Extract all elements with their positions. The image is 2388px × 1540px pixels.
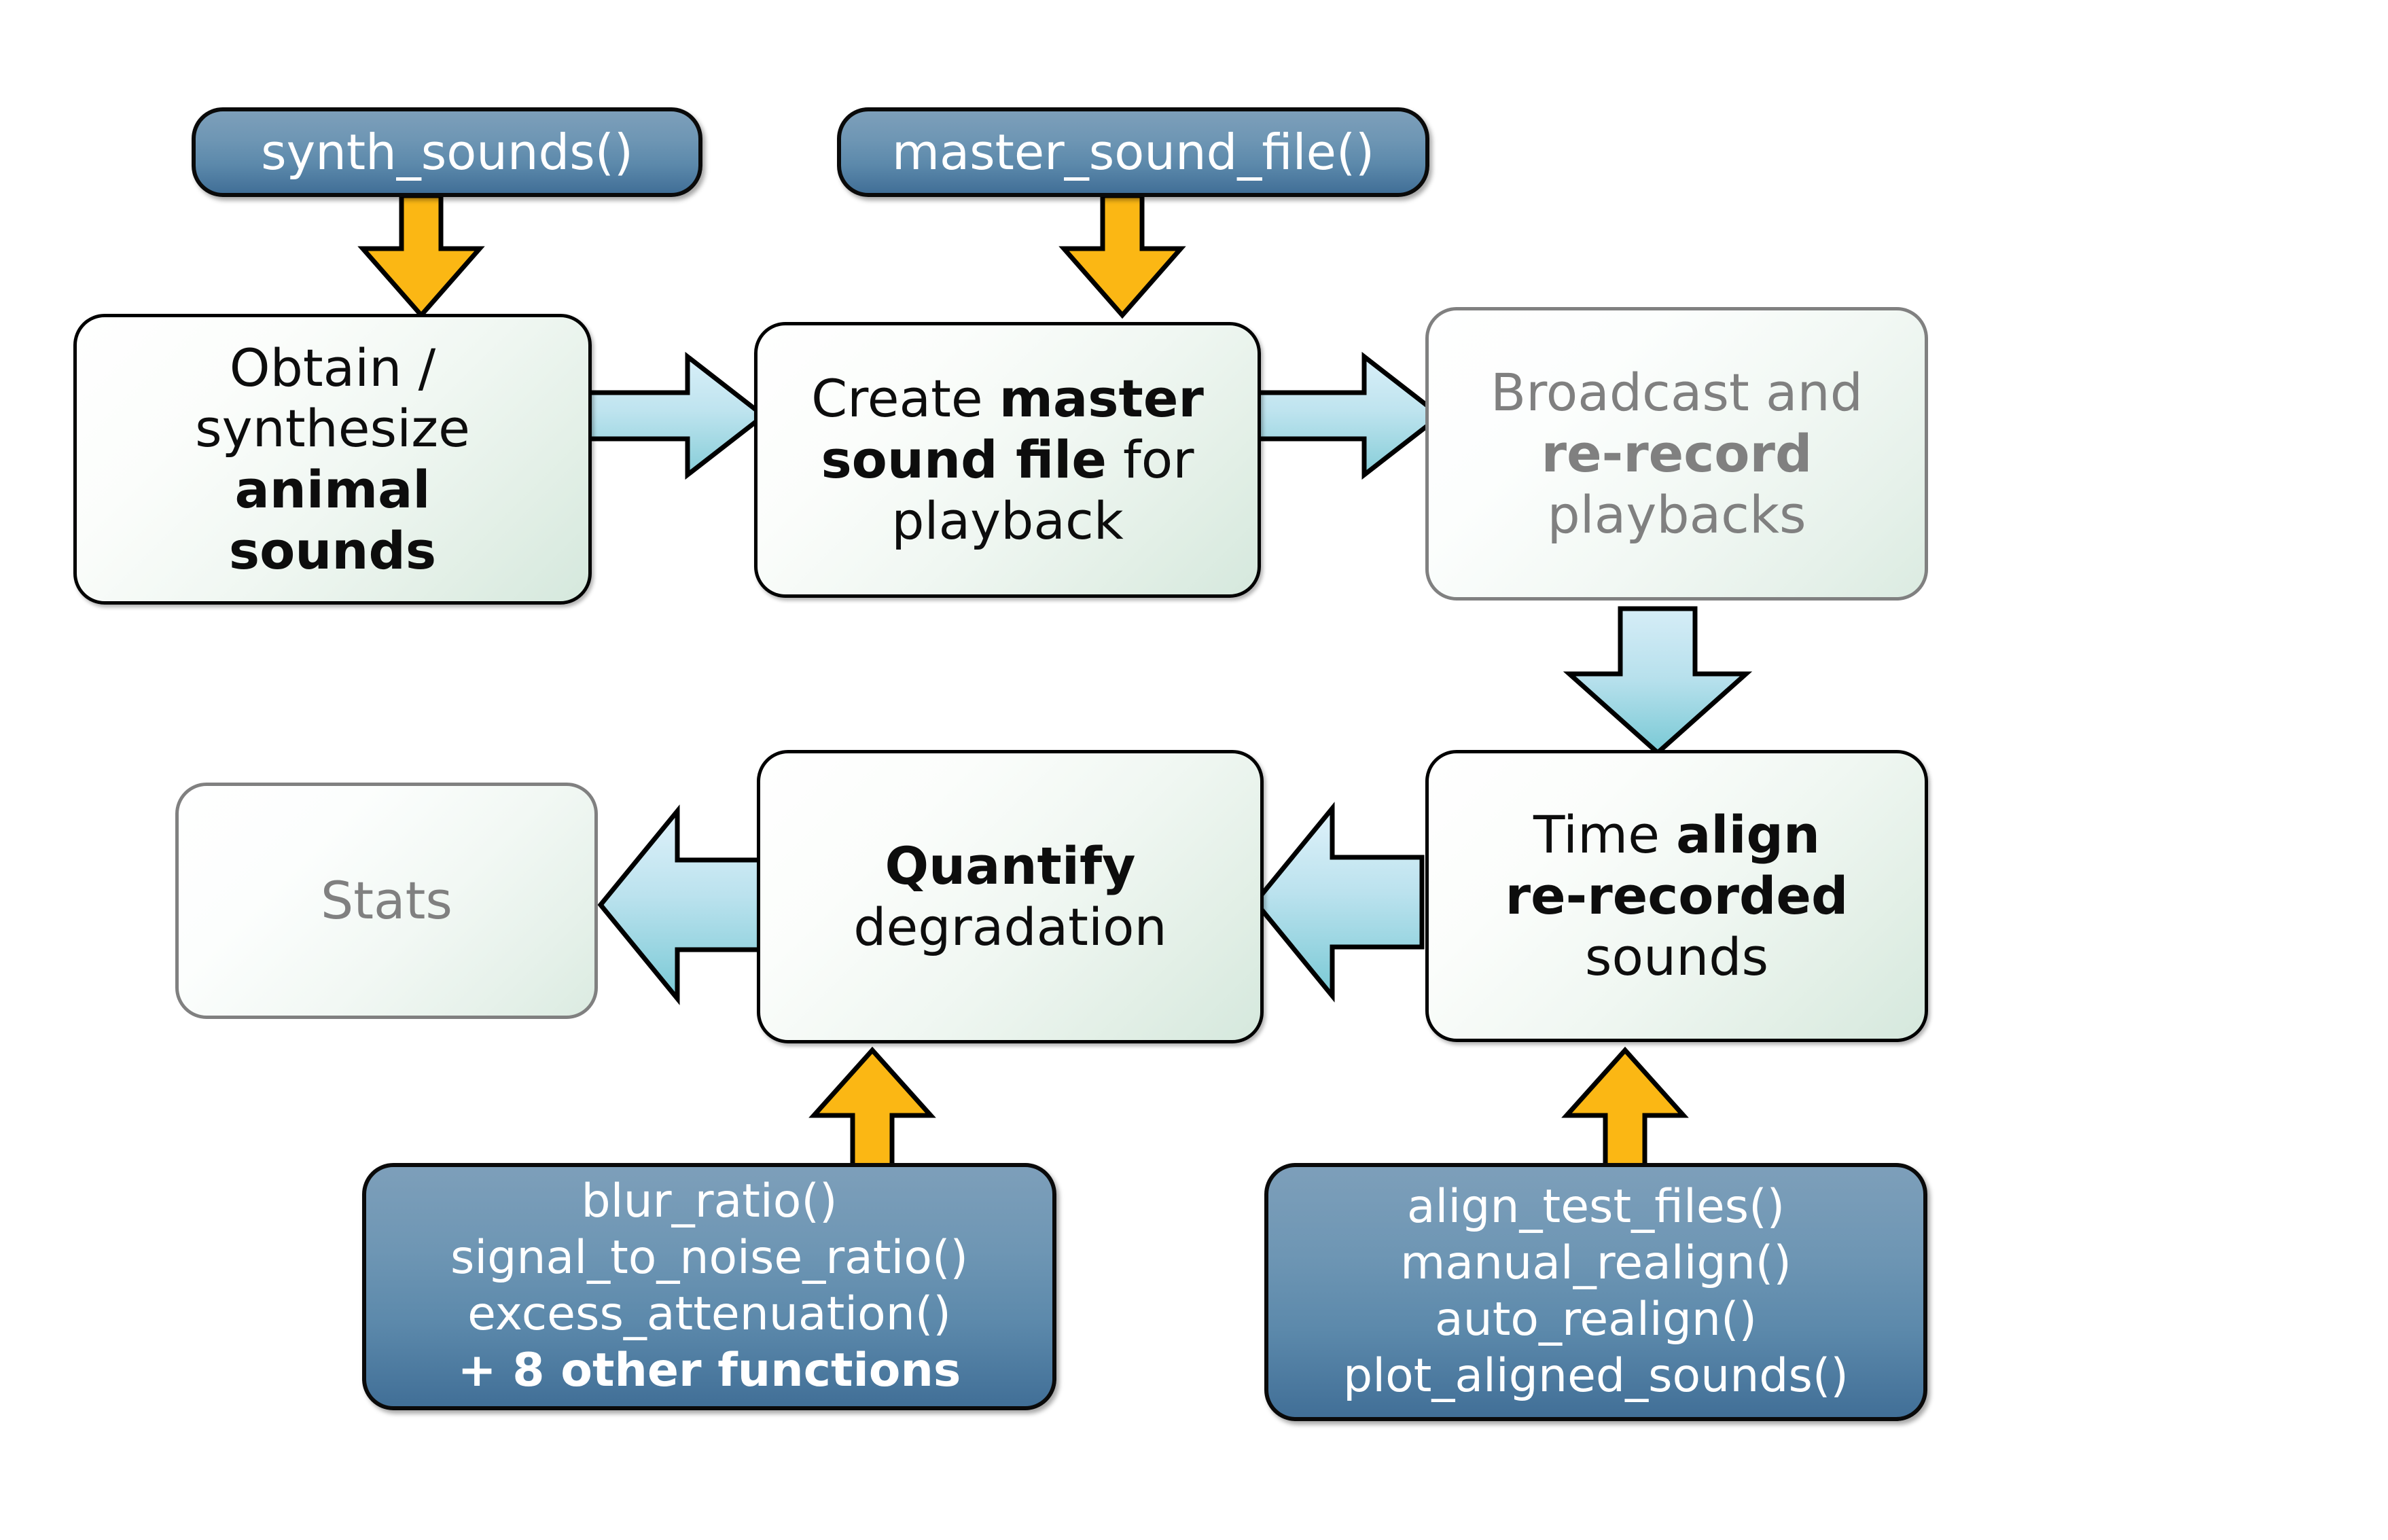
function-name: blur_ratio() (380, 1174, 1039, 1230)
node-create-master-label: Create master sound file for playback (775, 368, 1240, 551)
node-quantify-functions-label: blur_ratio() signal_to_noise_ratio() exc… (380, 1174, 1039, 1399)
node-master-sound-file[interactable]: master_sound_file() (837, 107, 1429, 197)
text-line: Time align (1446, 804, 1907, 865)
text-line: Quantify (778, 836, 1243, 897)
text-run-bold: master (999, 368, 1204, 429)
function-name: excess_attenuation() (380, 1287, 1039, 1343)
text-run: for (1107, 429, 1194, 490)
text-line: playback (775, 490, 1240, 552)
text-line: degradation (778, 897, 1243, 958)
arrow-quantifyfns-to-quantify (810, 1047, 935, 1171)
text-line: playbacks (1446, 484, 1907, 545)
arrow-create-to-broadcast (1258, 355, 1443, 477)
arrow-obtain-to-create (582, 355, 766, 477)
text-line: Broadcast and (1446, 362, 1907, 423)
arrow-alignfns-to-timealign (1563, 1047, 1688, 1171)
text-run: Create (811, 368, 999, 429)
node-master-sound-file-label: master_sound_file() (855, 125, 1412, 180)
node-stats-label: Stats (196, 870, 577, 931)
text-run-bold: sound file (821, 429, 1106, 490)
node-create-master-sound-file[interactable]: Create master sound file for playback (754, 322, 1261, 598)
text-line: re-record (1446, 423, 1907, 484)
node-align-functions-label: align_test_files() manual_realign() auto… (1282, 1179, 1910, 1405)
text-line: sounds (1446, 927, 1907, 988)
node-obtain-synthesize-label: Obtain / synthesize animal sounds (94, 338, 571, 581)
function-name: signal_to_noise_ratio() (380, 1230, 1039, 1287)
function-name: manual_realign() (1282, 1236, 1910, 1292)
node-align-functions[interactable]: align_test_files() manual_realign() auto… (1264, 1163, 1927, 1421)
node-quantify-degradation[interactable]: Quantify degradation (757, 750, 1264, 1043)
arrow-master-to-create (1060, 196, 1185, 317)
text-line: sounds (94, 520, 571, 581)
text-line: Create master (775, 368, 1240, 429)
text-run: Time (1533, 804, 1676, 865)
text-line: animal (94, 459, 571, 520)
node-stats[interactable]: Stats (175, 783, 598, 1019)
arrow-broadcast-to-timealign (1565, 609, 1750, 755)
node-time-align-label: Time align re-recorded sounds (1446, 804, 1907, 987)
function-name: align_test_files() (1282, 1179, 1910, 1236)
flowchart-canvas: synth_sounds() master_sound_file() Obtai… (0, 0, 2388, 1540)
function-name: auto_realign() (1282, 1292, 1910, 1348)
arrow-quantify-to-stats (598, 808, 769, 1001)
node-broadcast-rerecord[interactable]: Broadcast and re-record playbacks (1425, 307, 1928, 601)
node-time-align[interactable]: Time align re-recorded sounds (1425, 750, 1928, 1042)
node-quantify-degradation-label: Quantify degradation (778, 836, 1243, 957)
text-line: sound file for (775, 429, 1240, 490)
node-synth-sounds[interactable]: synth_sounds() (192, 107, 702, 197)
node-obtain-synthesize[interactable]: Obtain / synthesize animal sounds (73, 314, 592, 605)
node-broadcast-rerecord-label: Broadcast and re-record playbacks (1446, 362, 1907, 545)
arrow-synth-to-obtain (359, 196, 484, 317)
text-line: Obtain / (94, 338, 571, 399)
text-line: synthesize (94, 398, 571, 459)
function-count-note: + 8 other functions (380, 1343, 1039, 1399)
text-line: re-recorded (1446, 865, 1907, 927)
node-quantify-functions[interactable]: blur_ratio() signal_to_noise_ratio() exc… (362, 1163, 1056, 1410)
arrow-timealign-to-quantify (1253, 806, 1424, 999)
function-name: plot_aligned_sounds() (1282, 1348, 1910, 1405)
node-synth-sounds-label: synth_sounds() (209, 125, 685, 180)
text-run-bold: align (1676, 804, 1820, 865)
